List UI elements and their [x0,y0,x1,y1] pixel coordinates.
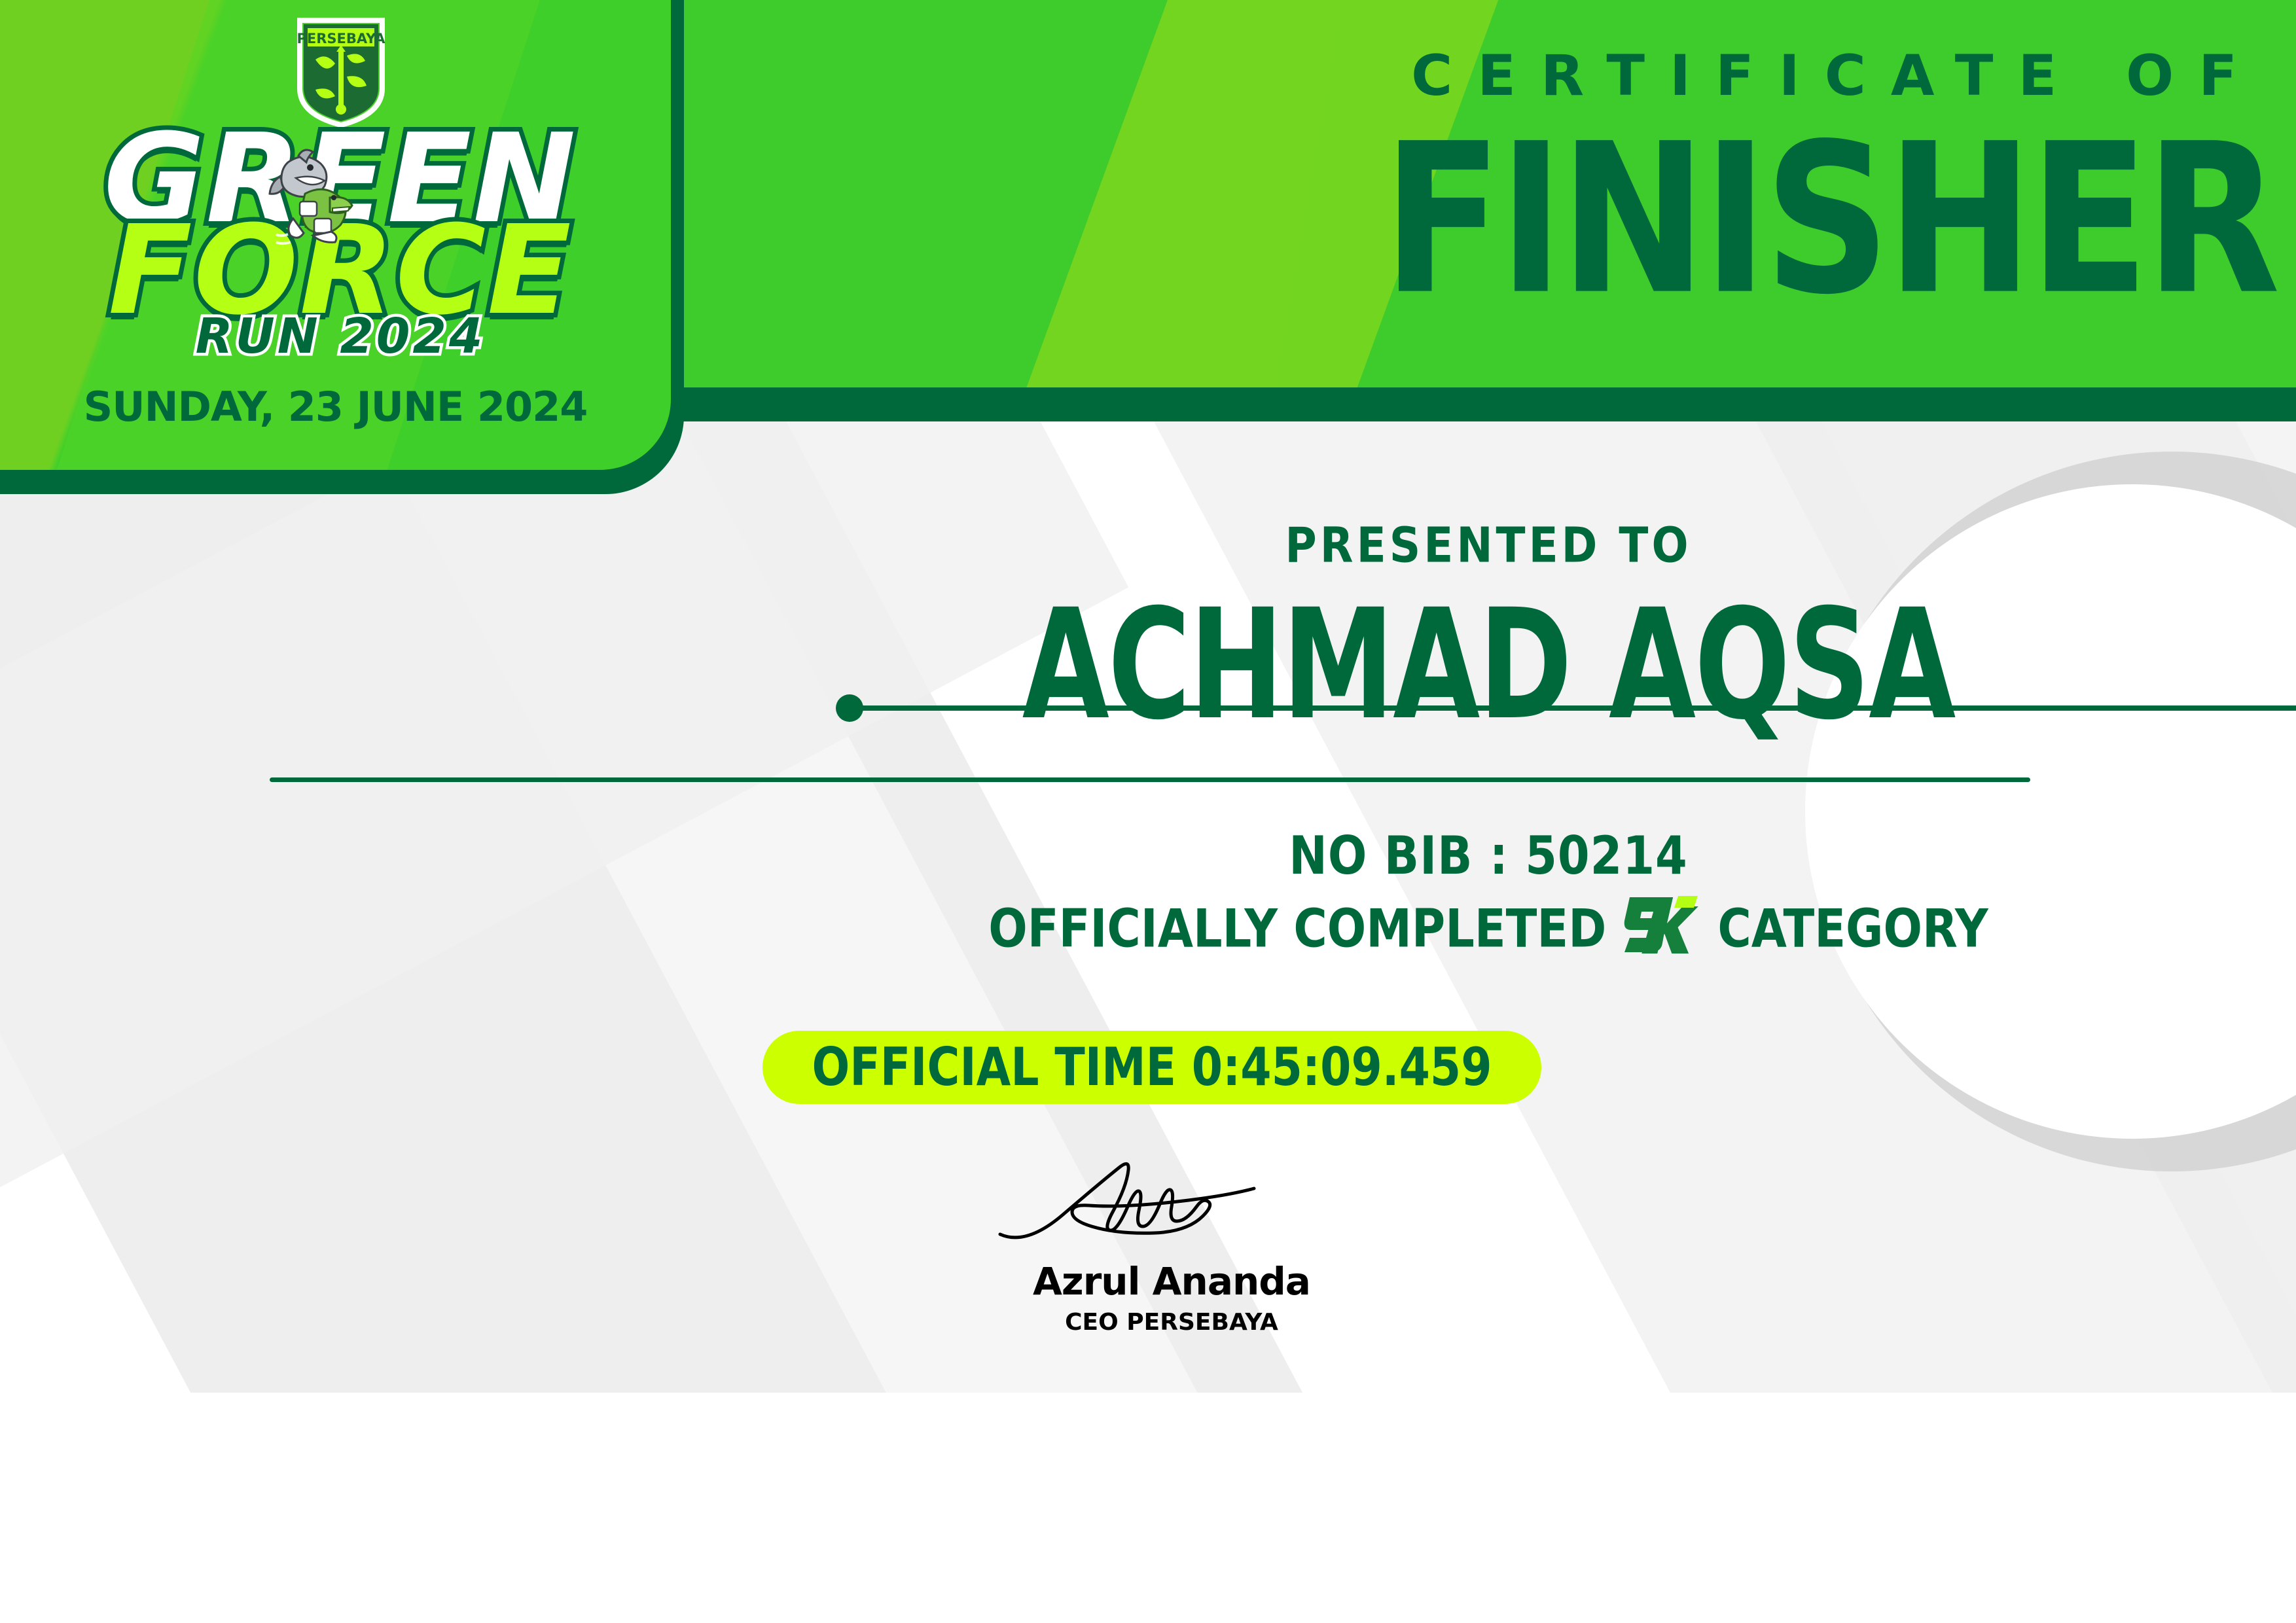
official-time-text: OFFICIAL TIME 0:45:09.459 [812,1037,1492,1097]
footer-background [0,1393,2296,1623]
category-row: OFFICIALLY COMPLETED CATEGORY [681,893,2296,964]
certificate-root: PERSEBAYA GREEN FORCE RUN 2024 SUNDAY, 2… [0,0,2296,1623]
handwritten-signature-icon [988,1157,1355,1255]
header-dark-edge [681,387,2296,421]
five-k-badge-icon [1623,893,1700,964]
category-suffix: CATEGORY [1717,898,1988,959]
certificate-of-label: CERTIFICATE OF [1411,43,2262,109]
certificate-title-finisher: FINISHER [1382,116,2276,323]
name-divider [270,777,2030,782]
bib-number: NO BIB : 50214 [681,825,2296,886]
signatory-name: Azrul Ananda [969,1259,1374,1304]
signatory-role: CEO PERSEBAYA [969,1309,1374,1336]
signature-block: Azrul Ananda CEO PERSEBAYA [969,1157,1374,1336]
logo-line-run: RUN 2024 [39,312,641,361]
svg-text:PERSEBAYA: PERSEBAYA [296,31,386,46]
official-time-badge: OFFICIAL TIME 0:45:09.459 [762,1031,1541,1104]
shark-crocodile-mascot-icon [262,143,360,254]
recipient-name: ACHMAD AQSA [681,576,2296,753]
category-prefix: OFFICIALLY COMPLETED [988,898,1606,959]
presented-to-label: PRESENTED TO [681,517,2296,573]
event-date: SUNDAY, 23 JUNE 2024 [0,383,671,431]
